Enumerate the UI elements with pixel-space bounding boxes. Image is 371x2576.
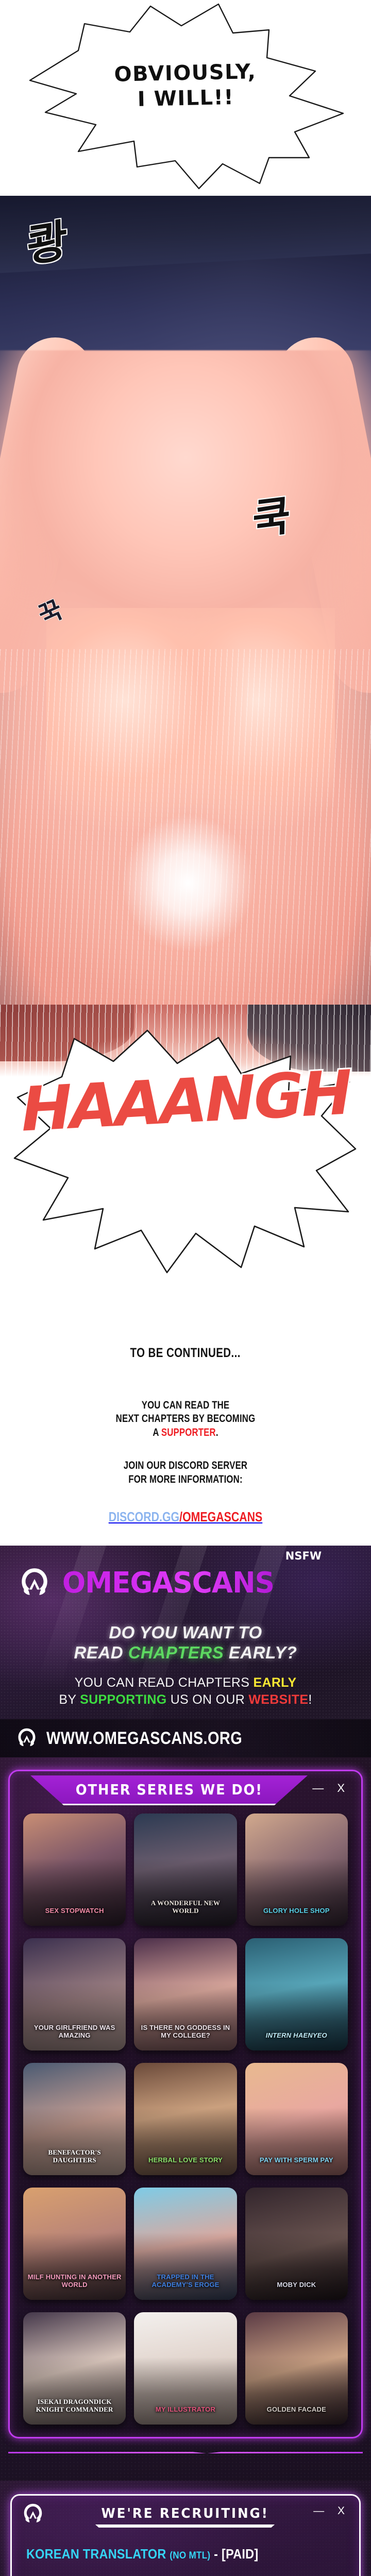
banner-sub-line-1: YOU CAN READ CHAPTERS EARLY bbox=[7, 1674, 364, 1691]
omegascans-logo-icon-recruit bbox=[21, 2502, 45, 2526]
banner-headline-line-1: DO YOU WANT TO bbox=[6, 1623, 365, 1643]
series-card[interactable]: PAY WITH SPERM PAY bbox=[245, 2063, 348, 2175]
webtoon-chapter-page: OBVIOUSLY, I WILL!! 쾅 쿡 꾹 HAAANGH TO B bbox=[0, 0, 371, 2576]
comic-panel-sfx-burst: HAAANGH bbox=[0, 1005, 371, 1314]
series-card[interactable]: MY ILLUSTRATOR bbox=[134, 2312, 237, 2425]
series-card[interactable]: HERBAL LOVE STORY bbox=[134, 2063, 237, 2175]
series-title: MILF HUNTING IN ANOTHER WORLD bbox=[23, 2274, 126, 2300]
series-card[interactable]: MILF HUNTING IN ANOTHER WORLD bbox=[23, 2188, 126, 2300]
recruiting-section: WE'RE RECRUITING! — X KOREAN TRANSLATOR … bbox=[0, 2481, 371, 2576]
series-title: HERBAL LOVE STORY bbox=[134, 2157, 237, 2176]
omegascans-logo-icon bbox=[18, 1566, 52, 1600]
role-note: (NO MTL) bbox=[170, 2550, 210, 2561]
omegascans-logo-icon-small bbox=[15, 1727, 38, 1750]
recruit-role-row: KOREAN TRANSLATOR (NO MTL) - [PAID] bbox=[26, 2546, 313, 2562]
recruit-window-title: WE'RE RECRUITING! bbox=[101, 2506, 268, 2521]
series-grid: SEX STOPWATCH A WONDERFUL NEW WORLD GLOR… bbox=[10, 1810, 361, 2425]
role-dash: - bbox=[214, 2546, 218, 2562]
series-card[interactable]: SEX STOPWATCH bbox=[23, 1814, 126, 1926]
recruiting-window: WE'RE RECRUITING! — X KOREAN TRANSLATOR … bbox=[10, 2494, 361, 2576]
series-card[interactable]: TRAPPED IN THE ACADEMY'S EROGE bbox=[134, 2188, 237, 2300]
role-name: KOREAN TRANSLATOR bbox=[26, 2546, 166, 2562]
series-card[interactable]: BENEFACTOR'S DAUGHTERS bbox=[23, 2063, 126, 2175]
series-title: A WONDERFUL NEW WORLD bbox=[134, 1900, 237, 1926]
to-be-continued-text: TO BE CONTINUED... bbox=[130, 1346, 241, 1361]
recruit-window-controls[interactable]: — X bbox=[313, 2505, 350, 2517]
recruit-window-title-chevron: WE'RE RECRUITING! bbox=[69, 2501, 301, 2528]
banner-headline-line-2: READ CHAPTERS EARLY? bbox=[6, 1643, 365, 1663]
omegascans-wordmark: OMEGASCANS bbox=[62, 1569, 274, 1598]
promo-line-3-prefix: A bbox=[153, 1427, 161, 1438]
promo-line-2: NEXT CHAPTERS BY BECOMING bbox=[37, 1412, 334, 1426]
series-title: TRAPPED IN THE ACADEMY'S EROGE bbox=[134, 2274, 237, 2300]
other-series-section: OTHER SERIES WE DO! — X SEX STOPWATCH A … bbox=[0, 1757, 371, 2481]
promo-line-4: JOIN OUR DISCORD SERVER bbox=[37, 1459, 334, 1472]
series-card[interactable]: INTERN HAENYEO bbox=[245, 1938, 348, 2050]
series-card[interactable]: GOLDEN FACADE bbox=[245, 2312, 348, 2425]
headline-chapters-highlight: CHAPTERS bbox=[128, 1643, 224, 1662]
series-title: MY ILLUSTRATOR bbox=[134, 2406, 237, 2425]
sfx-text-top-left: 쾅 bbox=[26, 204, 68, 275]
website-url-text: WWW.OMEGASCANS.ORG bbox=[46, 1728, 242, 1749]
series-card[interactable]: YOUR GIRLFRIEND WAS AMAZING bbox=[23, 1938, 126, 2050]
series-card[interactable]: A WONDERFUL NEW WORLD bbox=[134, 1814, 237, 1926]
supporter-promo-text: YOU CAN READ THE NEXT CHAPTERS BY BECOMI… bbox=[0, 1399, 371, 1486]
sub-us-on-our: US ON OUR bbox=[166, 1692, 248, 1707]
sub-line1-text: YOU CAN READ CHAPTERS bbox=[75, 1675, 254, 1690]
series-title: YOUR GIRLFRIEND WAS AMAZING bbox=[23, 2024, 126, 2050]
supporter-highlight: SUPPORTER bbox=[161, 1427, 216, 1438]
recruit-role-list: KOREAN TRANSLATOR (NO MTL) - [PAID] EDIT… bbox=[12, 2533, 359, 2576]
promo-line-3-suffix: . bbox=[216, 1427, 218, 1438]
comic-panel-speech-balloon: OBVIOUSLY, I WILL!! bbox=[0, 0, 371, 196]
section-divider bbox=[8, 2443, 363, 2465]
series-title: PAY WITH SPERM PAY bbox=[245, 2157, 348, 2176]
omegascans-logo-row: OMEGASCANS NSFW bbox=[0, 1558, 371, 1608]
promo-spacer bbox=[0, 1439, 371, 1459]
series-window-controls[interactable]: — X bbox=[312, 1782, 350, 1795]
series-title: BENEFACTOR'S DAUGHTERS bbox=[23, 2149, 126, 2175]
sub-supporting-highlight: SUPPORTING bbox=[80, 1692, 166, 1707]
promo-line-5: FOR MORE INFORMATION: bbox=[37, 1473, 334, 1486]
series-card[interactable]: GLORY HOLE SHOP bbox=[245, 1814, 348, 1926]
comic-panel-artwork: 쾅 쿡 꾹 bbox=[0, 196, 371, 1005]
discord-invite-link[interactable]: DISCORD.GG/OMEGASCANS bbox=[33, 1509, 338, 1525]
sub-website-highlight: WEBSITE bbox=[248, 1692, 308, 1707]
series-title: GLORY HOLE SHOP bbox=[245, 1907, 348, 1926]
series-window-title: OTHER SERIES WE DO! bbox=[75, 1781, 262, 1798]
series-card[interactable]: MOBY DICK bbox=[245, 2188, 348, 2300]
headline-read: READ bbox=[74, 1643, 128, 1662]
series-title: GOLDEN FACADE bbox=[245, 2406, 348, 2425]
website-url-bar[interactable]: WWW.OMEGASCANS.ORG bbox=[0, 1719, 371, 1757]
sfx-text-right: 쿡 bbox=[252, 482, 291, 547]
series-window-titlebar: OTHER SERIES WE DO! — X bbox=[10, 1771, 361, 1810]
artwork-speed-lines bbox=[0, 649, 371, 1005]
balloon-text: OBVIOUSLY, I WILL!! bbox=[0, 57, 371, 115]
banner-subtext: YOU CAN READ CHAPTERS EARLY BY SUPPORTIN… bbox=[0, 1665, 371, 1708]
banner-headline: DO YOU WANT TO READ CHAPTERS EARLY? bbox=[0, 1608, 371, 1665]
omegascans-promo-banner: OMEGASCANS NSFW DO YOU WANT TO READ CHAP… bbox=[0, 1546, 371, 1757]
sub-exclaim: ! bbox=[308, 1692, 312, 1707]
sub-early-highlight: EARLY bbox=[254, 1675, 297, 1690]
discord-link-path: /OMEGASCANS bbox=[179, 1509, 262, 1524]
promo-line-1: YOU CAN READ THE bbox=[37, 1399, 334, 1412]
series-title: INTERN HAENYEO bbox=[245, 2032, 348, 2051]
banner-sub-line-2: BY SUPPORTING US ON OUR WEBSITE! bbox=[7, 1691, 364, 1708]
series-card[interactable]: ISEKAI DRAGONDICK KNIGHT COMMANDER bbox=[23, 2312, 126, 2425]
series-card[interactable]: IS THERE NO GODDESS IN MY COLLEGE? bbox=[134, 1938, 237, 2050]
series-title: IS THERE NO GODDESS IN MY COLLEGE? bbox=[134, 2024, 237, 2050]
recruit-window-titlebar: WE'RE RECRUITING! — X bbox=[12, 2496, 359, 2533]
series-title: MOBY DICK bbox=[245, 2281, 348, 2300]
series-window-title-chevron: OTHER SERIES WE DO! bbox=[30, 1775, 308, 1805]
outro-block: TO BE CONTINUED... YOU CAN READ THE NEXT… bbox=[0, 1314, 371, 1546]
headline-early: EARLY? bbox=[224, 1643, 297, 1662]
role-pay-badge: [PAID] bbox=[222, 2546, 258, 2562]
discord-link-domain: DISCORD.GG bbox=[109, 1509, 179, 1524]
sub-by: BY bbox=[59, 1692, 80, 1707]
promo-line-3: A SUPPORTER. bbox=[37, 1426, 334, 1439]
nsfw-badge: NSFW bbox=[285, 1550, 322, 1562]
series-title: SEX STOPWATCH bbox=[23, 1907, 126, 1926]
other-series-window: OTHER SERIES WE DO! — X SEX STOPWATCH A … bbox=[8, 1770, 363, 2438]
series-title: ISEKAI DRAGONDICK KNIGHT COMMANDER bbox=[23, 2398, 126, 2425]
